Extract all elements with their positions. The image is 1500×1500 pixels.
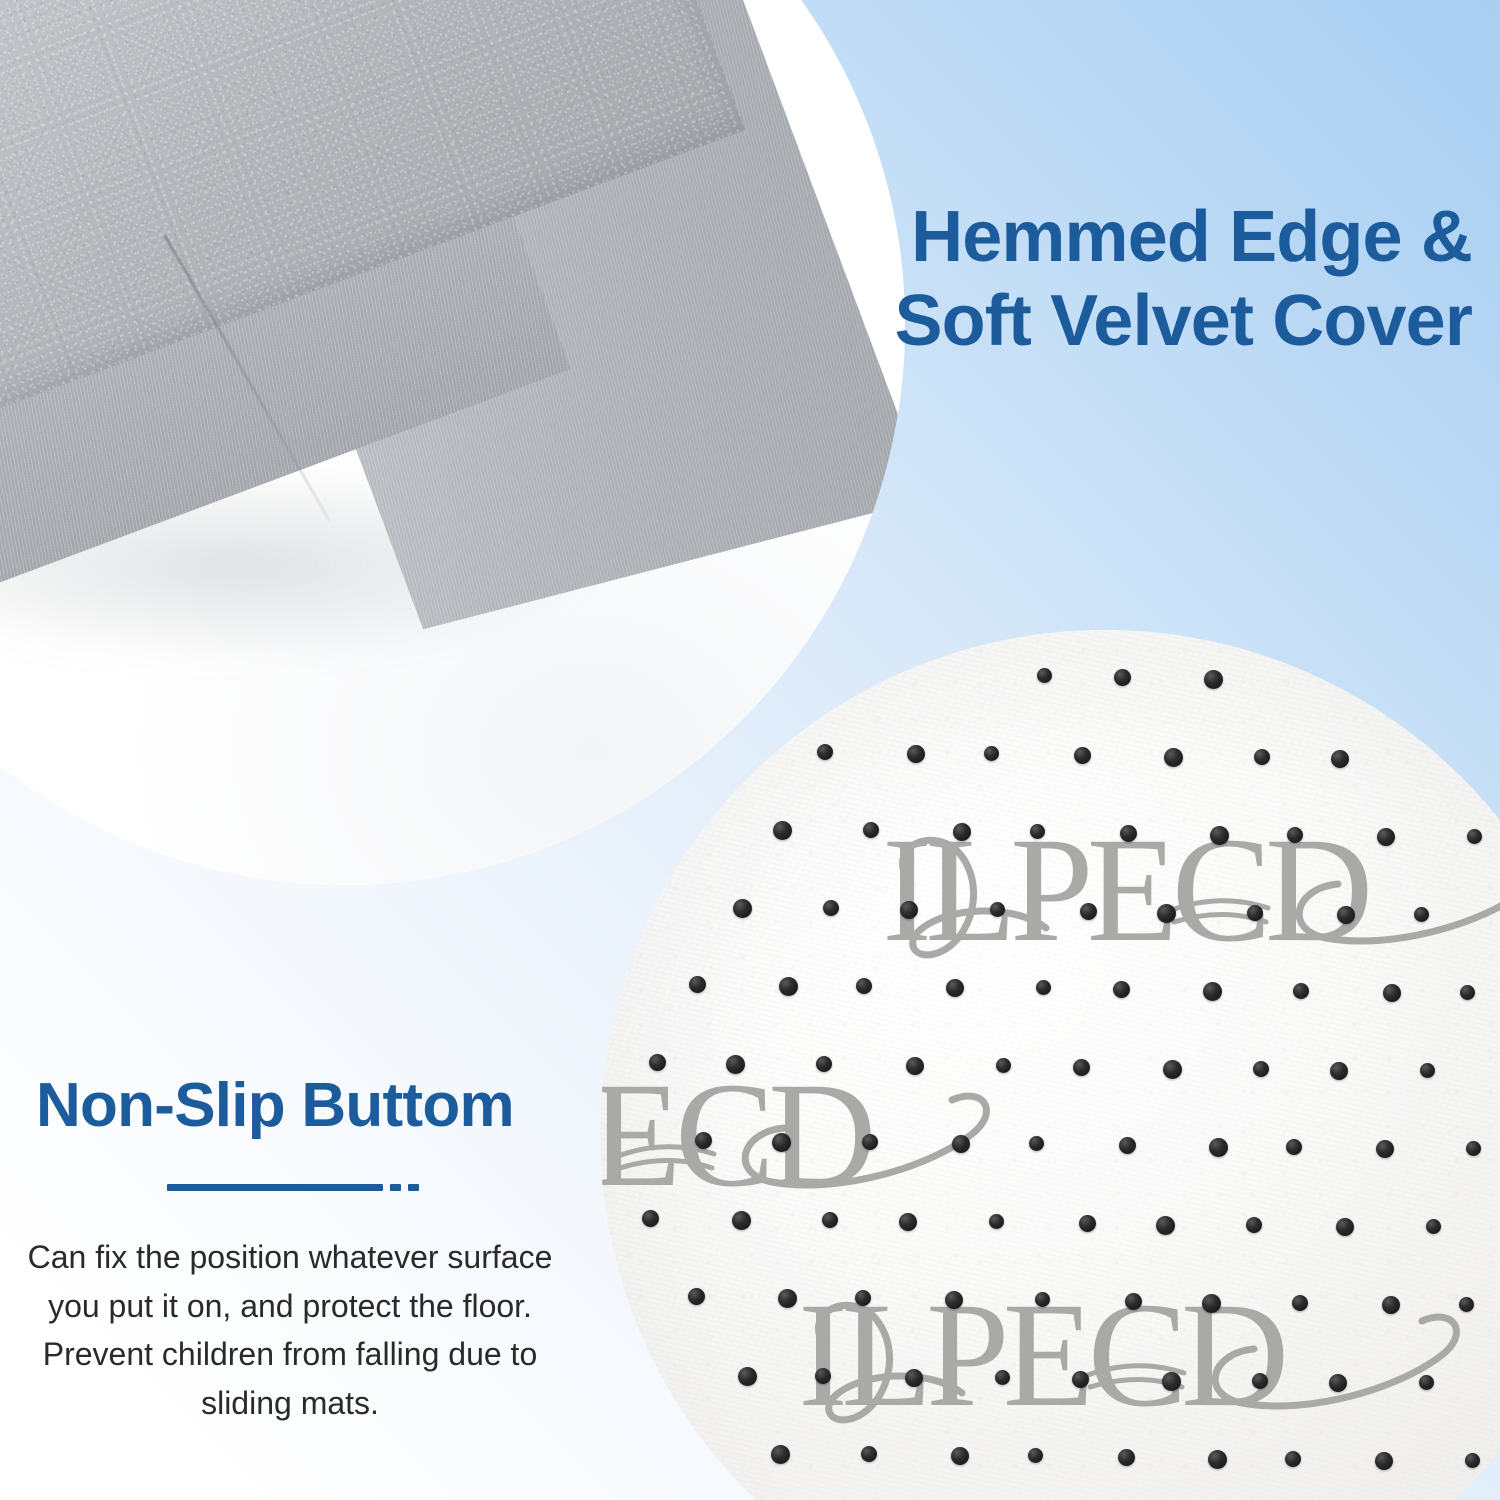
grip-dot <box>816 1056 832 1072</box>
grip-dot <box>1203 982 1222 1001</box>
grip-dot <box>1118 1449 1135 1466</box>
grip-dot <box>1330 1062 1348 1080</box>
grip-dot <box>906 1057 924 1075</box>
grip-dot <box>1079 1215 1096 1232</box>
grip-dot <box>1113 981 1130 998</box>
grip-dot <box>1382 1296 1400 1314</box>
grip-dot <box>771 1445 790 1464</box>
grip-dot <box>1156 1216 1175 1235</box>
grip-dot <box>1253 1061 1269 1077</box>
grip-dot <box>1114 669 1131 686</box>
grip-dot <box>1467 829 1482 844</box>
grip-dot <box>899 1213 917 1231</box>
grip-dot <box>1029 1136 1044 1151</box>
grip-dot <box>1286 1139 1302 1155</box>
grip-dot <box>1119 1137 1136 1154</box>
grip-dot <box>822 1212 838 1228</box>
grip-dot <box>1292 1295 1308 1311</box>
grip-dot <box>1035 1292 1050 1307</box>
body-line-1: Can fix the position whatever surface <box>24 1233 556 1282</box>
grip-dot <box>1210 826 1229 845</box>
grip-dot <box>1336 1218 1354 1236</box>
body-line-3: Prevent children from falling due to <box>24 1330 556 1379</box>
grip-dot <box>990 902 1005 917</box>
feature-heading-hemmed-edge: Hemmed Edge & Soft Velvet Cover <box>832 196 1472 363</box>
grip-dot <box>1163 1060 1182 1079</box>
feature-heading-nonslip: Non-Slip Buttom <box>16 1072 564 1140</box>
grip-dot <box>1466 1141 1481 1156</box>
grip-dot <box>733 899 752 918</box>
grip-dot <box>945 1291 963 1309</box>
grip-dot <box>1209 1138 1228 1157</box>
grip-dot <box>817 744 833 760</box>
grip-dot <box>855 1290 871 1306</box>
grip-dot <box>1072 1371 1089 1388</box>
heading-line-1: Hemmed Edge & <box>832 196 1472 280</box>
grip-dot <box>907 745 925 763</box>
grip-dot <box>905 1369 923 1387</box>
grip-dot <box>953 823 971 841</box>
grip-dot <box>1208 1450 1227 1469</box>
grip-dot <box>1419 1375 1434 1390</box>
grip-dot <box>1120 825 1137 842</box>
heading-divider <box>22 1184 564 1191</box>
grip-dot <box>995 1370 1010 1385</box>
grip-dot <box>1331 750 1349 768</box>
grip-dot <box>1420 1063 1435 1078</box>
nonslip-mat-circle: ILPECD ECD ILPECD <box>600 630 1500 1500</box>
grip-dot <box>1162 1372 1181 1391</box>
grip-dot <box>1285 1451 1301 1467</box>
grip-dot <box>823 900 839 916</box>
grip-dot <box>1375 1452 1393 1470</box>
grip-dot <box>642 1210 659 1227</box>
body-line-4: sliding mats. <box>24 1379 556 1428</box>
grip-dot <box>863 822 879 838</box>
grip-dot <box>951 1447 969 1465</box>
grip-dot <box>1074 747 1091 764</box>
divider-tick-1 <box>390 1184 401 1191</box>
grip-dot <box>1377 828 1395 846</box>
grip-dot <box>1125 1293 1142 1310</box>
grip-dot <box>1252 1373 1268 1389</box>
grip-dot <box>1164 748 1183 767</box>
grip-dot <box>1204 670 1223 689</box>
grip-dot <box>1459 1297 1474 1312</box>
grip-dot <box>1030 824 1045 839</box>
grip-dot <box>649 1054 666 1071</box>
grip-dot <box>1329 1374 1347 1392</box>
grip-dot <box>688 1288 705 1305</box>
grip-dot <box>946 979 964 997</box>
grip-dot <box>856 978 872 994</box>
grip-dot <box>689 976 706 993</box>
grip-dot <box>815 1368 831 1384</box>
divider-bar <box>167 1184 383 1191</box>
grip-dot <box>1202 1294 1221 1313</box>
grip-dot <box>1028 1448 1043 1463</box>
grip-dot <box>1073 1059 1090 1076</box>
grip-dot <box>1460 985 1475 1000</box>
grip-dot <box>984 746 999 761</box>
grip-dot <box>1246 1217 1262 1233</box>
body-line-2: you put it on, and protect the floor. <box>24 1282 556 1331</box>
grip-dot <box>1426 1219 1441 1234</box>
grip-dot <box>779 977 798 996</box>
grip-dot <box>1080 903 1097 920</box>
grip-dot <box>738 1367 757 1386</box>
grip-dot <box>1254 749 1270 765</box>
grip-dot <box>778 1289 797 1308</box>
grip-dot <box>732 1211 751 1230</box>
grip-dot <box>862 1134 878 1150</box>
product-feature-graphic: ILPECD ECD ILPECD Hemmed Edge & Soft Vel… <box>0 0 1500 1500</box>
feature-body-nonslip: Can fix the position whatever surface yo… <box>16 1233 564 1428</box>
divider-tick-2 <box>408 1184 419 1191</box>
grip-dot <box>861 1446 877 1462</box>
grip-dot <box>695 1132 712 1149</box>
feature-block-nonslip: Non-Slip Buttom Can fix the position wha… <box>16 1072 564 1428</box>
grip-dot <box>1293 983 1309 999</box>
grip-dot <box>952 1135 970 1153</box>
grip-dot <box>1414 907 1429 922</box>
heading-line-2: Soft Velvet Cover <box>832 280 1472 364</box>
grip-dot <box>1157 904 1176 923</box>
grip-dot <box>1247 905 1263 921</box>
grip-dot <box>1376 1140 1394 1158</box>
grip-dot <box>1287 827 1303 843</box>
grip-dot <box>996 1058 1011 1073</box>
brand-watermark-middle: ECD <box>600 1060 870 1210</box>
grip-dot <box>726 1055 745 1074</box>
grip-dot <box>1037 668 1052 683</box>
grip-dot <box>900 901 918 919</box>
grip-dot <box>1465 1453 1480 1468</box>
grip-dot <box>1337 906 1355 924</box>
grip-dot <box>1383 984 1401 1002</box>
grip-dot <box>1036 980 1051 995</box>
grip-dot <box>773 821 792 840</box>
grip-dot <box>772 1133 791 1152</box>
grip-dot <box>989 1214 1004 1229</box>
